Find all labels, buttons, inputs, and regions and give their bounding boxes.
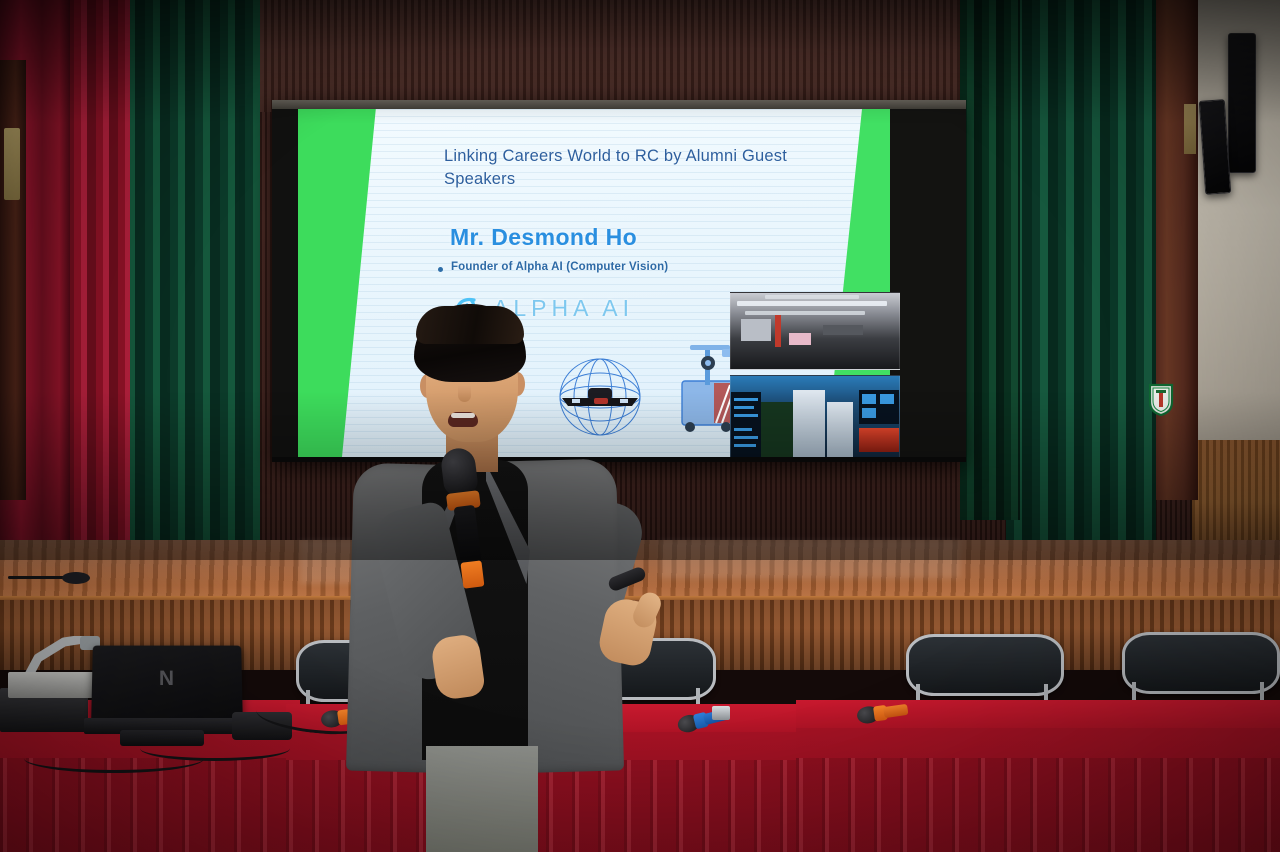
slide-letterbox-left [272,109,298,457]
stage-curtain-green-right-inner [960,0,1020,520]
small-table-object [712,706,730,720]
door-push-plate [4,128,20,200]
floor-reflection-2 [660,540,960,578]
upper-wall-panel [250,0,1040,112]
presentation-photo-scene: Linking Careers World to RC by Alumni Gu… [0,0,1280,852]
presenter-mouth [448,412,478,427]
wall-speaker-icon [1228,33,1256,173]
screen-top-edge [272,100,966,109]
stage-curtain-green-left [120,0,260,548]
floor-microphone-icon [8,572,92,584]
cable-bundle-2 [140,736,290,761]
slide-bullet-text: Founder of Alpha AI (Computer Vision) [451,261,668,273]
side-door-frame [0,60,26,500]
wall-pillar [1150,0,1198,500]
presenter-hair-fringe [416,306,524,344]
bullet-dot-icon [438,267,443,272]
laptop-logo: N [159,667,175,691]
slide-letterbox-right [890,109,966,457]
presenter [330,300,670,852]
slide-photo-dashboard [730,375,900,457]
slide-speaker-name: Mr. Desmond Ho [450,224,637,251]
slide-photo-industrial [730,292,900,370]
stage-curtain-green-right [1006,0,1156,540]
slide-title: Linking Careers World to RC by Alumni Gu… [444,145,804,192]
school-crest-icon [1148,382,1174,416]
presenter-nose [458,386,471,402]
laptop[interactable]: N [91,646,243,724]
slide-bullet-row: Founder of Alpha AI (Computer Vision) [438,261,668,273]
presenter-trousers [426,746,538,852]
wall-plate [1184,104,1196,154]
